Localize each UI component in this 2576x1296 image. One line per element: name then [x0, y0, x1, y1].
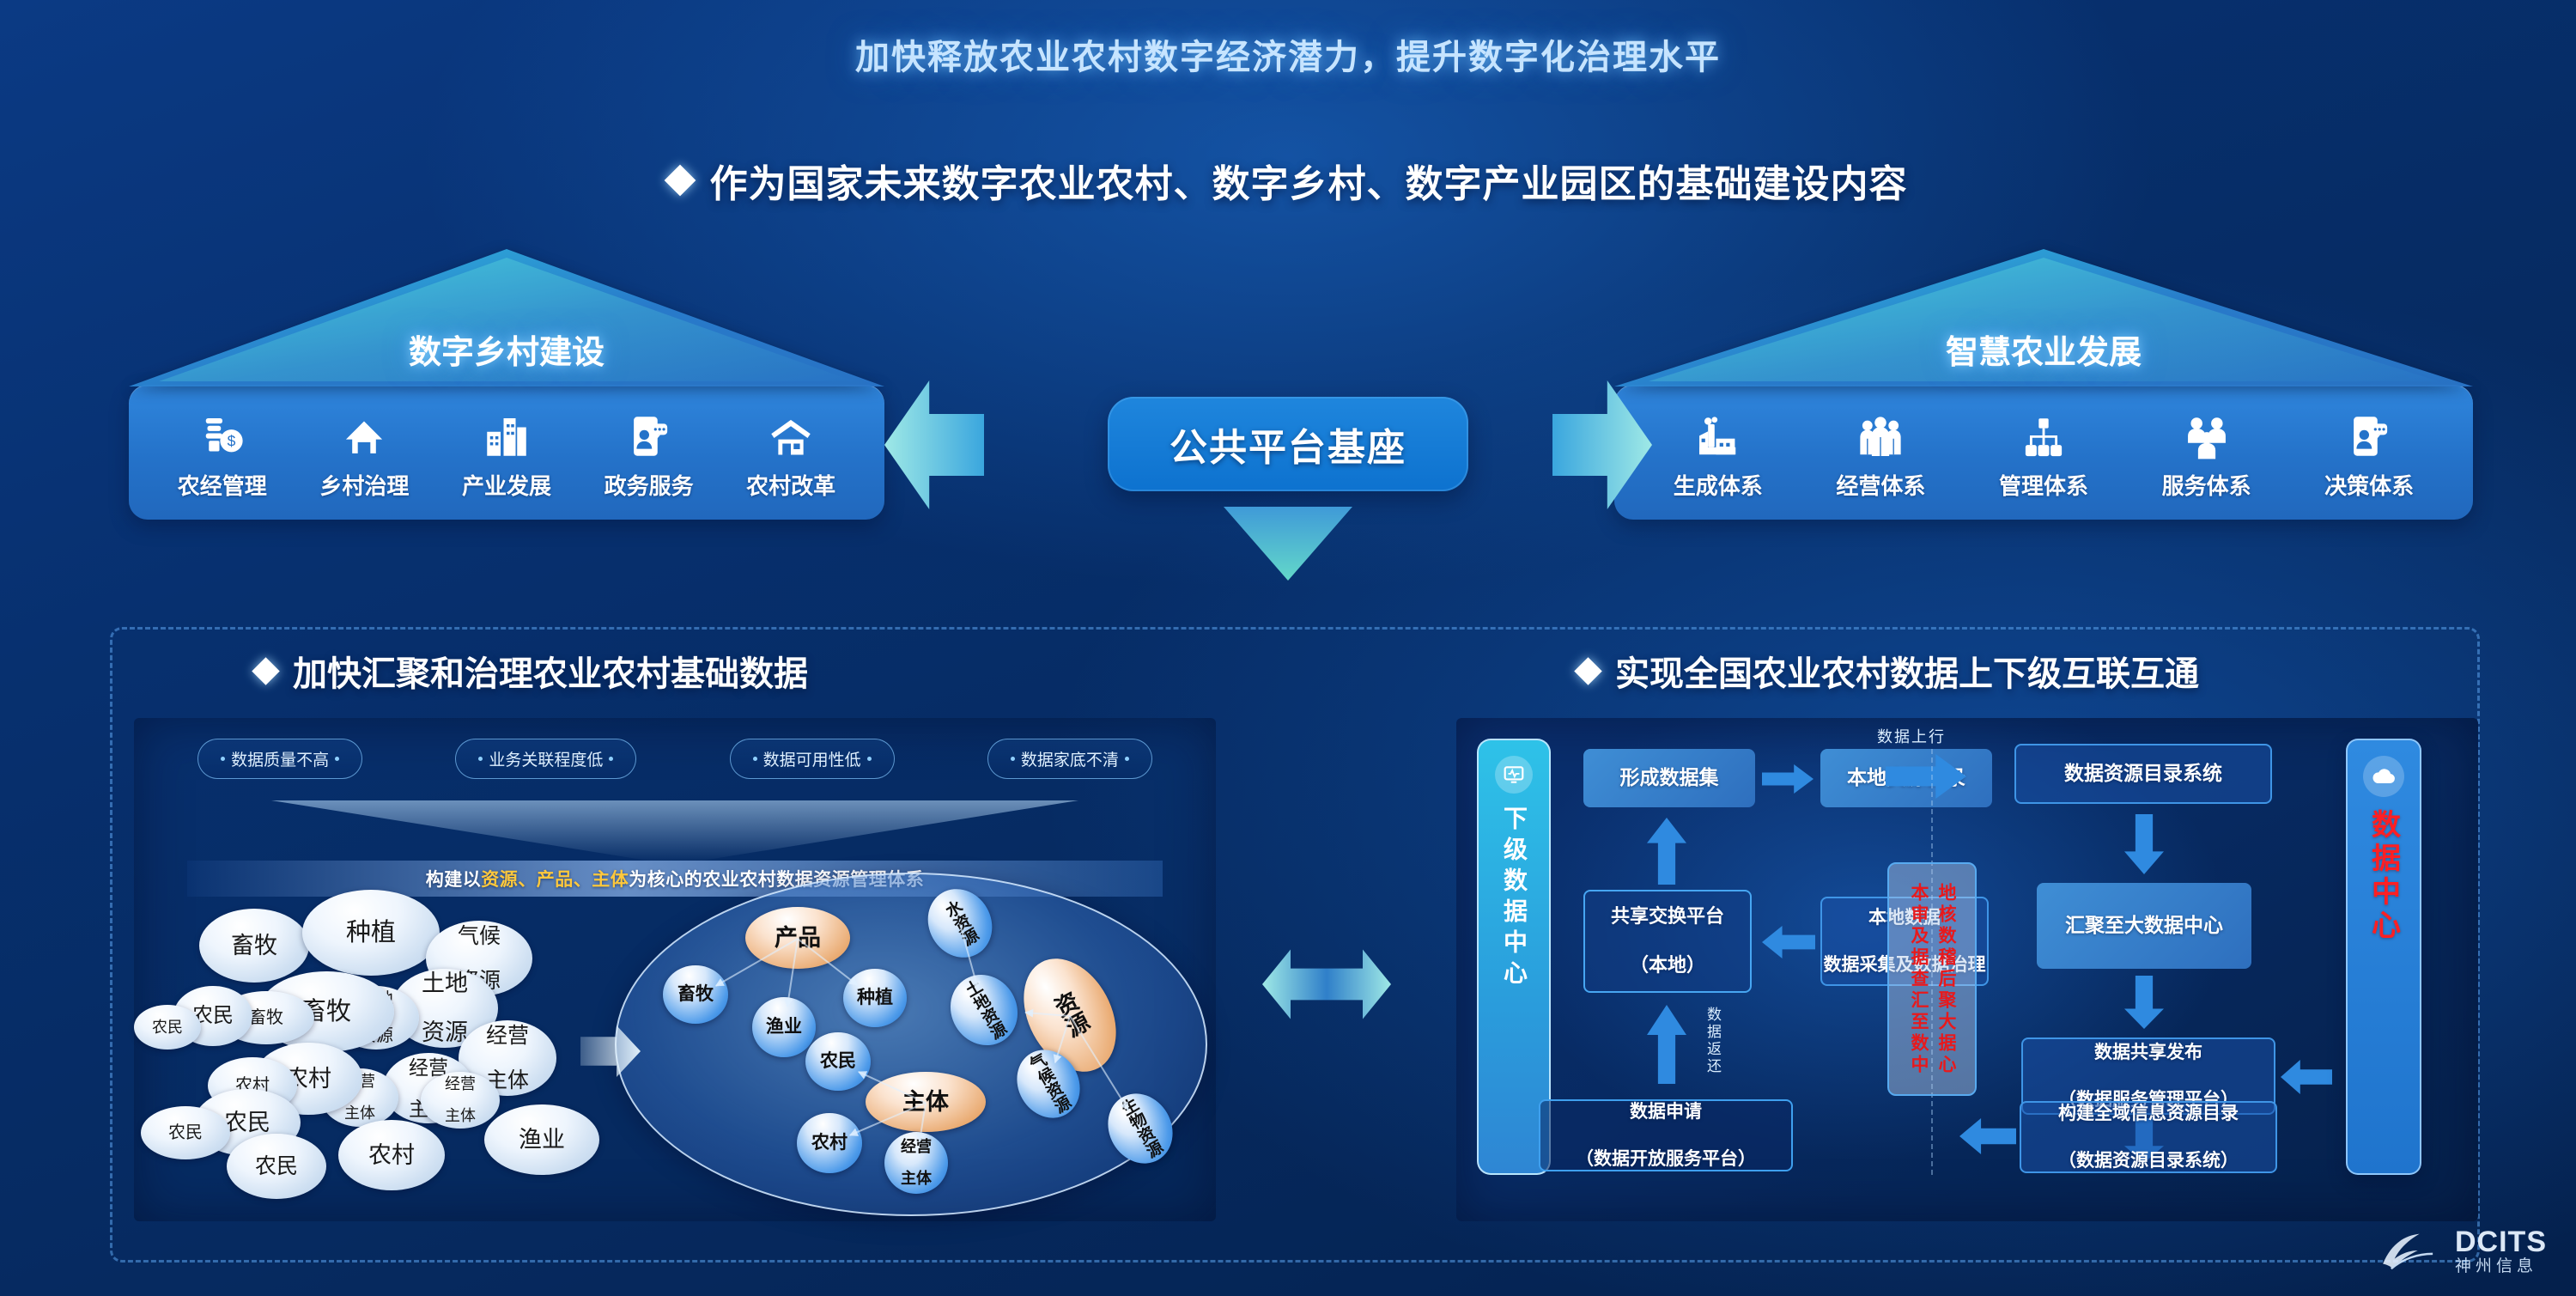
- problem-pill-label: 数据家底不清: [1021, 747, 1119, 770]
- arrow-center-to-publish-icon: [2281, 1060, 2332, 1094]
- problem-pill[interactable]: 数据家底不清: [987, 739, 1152, 779]
- bullet-dot-icon: [1125, 757, 1129, 761]
- monitor-pulse-icon: [1495, 756, 1533, 794]
- mobile-decision-icon: [2347, 407, 2391, 460]
- org-chart-icon: [2020, 407, 2067, 460]
- bottom-right-section-title-text: 实现全国农业农村数据上下级互联互通: [1615, 646, 2199, 696]
- money-stack-icon: $: [198, 407, 246, 460]
- bullet-dot-icon: [753, 757, 757, 761]
- platform-base-label: 公共平台基座: [1170, 417, 1406, 472]
- data-bubble: 农民: [227, 1134, 326, 1199]
- arrow-dataset-to-catalog-icon: [1762, 764, 1814, 794]
- bottom-left-panel: 数据质量不高业务关联程度低数据可用性低数据家底不清 构建以资源、产品、主体为核心…: [134, 718, 1216, 1221]
- left-roof: 数字乡村建设: [129, 249, 884, 386]
- data-bubble: 畜牧: [199, 909, 309, 983]
- feature-label: 生成体系: [1674, 469, 1763, 501]
- page-title: 加快释放农业农村数字经济潜力，提升数字化治理水平: [0, 29, 2576, 79]
- core-node-畜牧: 畜牧: [663, 965, 728, 1024]
- feature-label: 农村改革: [746, 469, 835, 501]
- box-global-information-resource-catalog[interactable]: 构建全域信息资源目录（数据资源目录系统）: [2020, 1101, 2277, 1173]
- factory-icon: [1695, 407, 1741, 460]
- right-feature-row: 生成体系经营体系管理体系服务体系决策体系: [1614, 385, 2473, 520]
- core-node-农民: 农民: [805, 1032, 871, 1091]
- core-data-model-graph: 产品资源主体畜牧渔业种植水资源土地资源气候资源生物资源农民农村经营主体: [615, 873, 1207, 1216]
- left-feature-row: $农经管理乡村治理产业发展政务服务农村改革: [129, 385, 884, 520]
- feature-item-农经管理[interactable]: $农经管理: [172, 407, 273, 501]
- arrow-govern-to-share-icon: [1762, 926, 1815, 958]
- feature-item-服务体系[interactable]: 服务体系: [2156, 407, 2257, 501]
- data-center-bar[interactable]: 数据中心: [2346, 739, 2421, 1175]
- bottom-left-section-title-text: 加快汇聚和治理农业农村基础数据: [293, 646, 808, 696]
- arrow-down-icon: [1224, 507, 1352, 581]
- data-bubble: 农民: [134, 1005, 201, 1050]
- arrow-catalog-to-aggregate-icon: [2124, 814, 2164, 874]
- bullet-dot-icon: [478, 757, 483, 761]
- data-center-label: 数据中心: [2363, 809, 2405, 943]
- bullet-dot-icon: [221, 757, 225, 761]
- right-roof-label: 智慧农业发展: [1614, 326, 2473, 373]
- core-banner-highlight: 资源、产品、主体: [481, 866, 629, 891]
- brand-logo: DCITS 神州信息: [2378, 1226, 2547, 1275]
- diamond-bullet-icon: [664, 165, 696, 197]
- home-icon: [342, 407, 386, 460]
- right-pillar-card: 智慧农业发展 生成体系经营体系管理体系服务体系决策体系: [1614, 249, 2473, 520]
- core-node-农村: 农村: [797, 1113, 862, 1173]
- feature-label: 政务服务: [605, 469, 694, 501]
- red-annotation-col-left: 本审及据查汇至数中: [1905, 883, 1931, 1076]
- bullet-dot-icon: [867, 757, 872, 761]
- problem-pill[interactable]: 业务关联程度低: [455, 739, 636, 779]
- problem-pill-row: 数据质量不高业务关联程度低数据可用性低数据家底不清: [151, 739, 1199, 779]
- diamond-bullet-icon: [1574, 657, 1602, 685]
- cloud-icon: [2363, 756, 2404, 797]
- feature-label: 服务体系: [2162, 469, 2251, 501]
- slide-root: 加快释放农业农村数字经济潜力，提升数字化治理水平 作为国家未来数字农业农村、数字…: [0, 0, 2576, 1296]
- bullet-dot-icon: [1011, 757, 1015, 761]
- box-form-dataset[interactable]: 形成数据集: [1583, 749, 1755, 807]
- problem-pill-label: 数据质量不高: [231, 747, 329, 770]
- arrow-aggregate-to-publish-icon: [2124, 976, 2164, 1029]
- data-bubble: 经营主体: [421, 1072, 500, 1129]
- logo-wordmark: DCITS 神州信息: [2455, 1227, 2547, 1275]
- feature-label: 乡村治理: [319, 469, 409, 501]
- feature-item-生成体系[interactable]: 生成体系: [1668, 407, 1769, 501]
- diamond-bullet-icon: [252, 657, 280, 685]
- bottom-right-section-title: 实现全国农业农村数据上下级互联互通: [1578, 646, 2199, 696]
- bottom-left-section-title: 加快汇聚和治理农业农村基础数据: [256, 646, 808, 696]
- data-bubble: 种植: [302, 890, 440, 976]
- left-pillar-card: 数字乡村建设 $农经管理乡村治理产业发展政务服务农村改革: [129, 249, 884, 520]
- feature-item-经营体系[interactable]: 经营体系: [1830, 407, 1931, 501]
- data-bubble: 农民: [141, 1106, 230, 1159]
- feature-item-管理体系[interactable]: 管理体系: [1993, 407, 2094, 501]
- feature-label: 管理体系: [1999, 469, 2088, 501]
- sub-data-center-label: 下级数据中心: [1497, 806, 1531, 991]
- logo-en: DCITS: [2455, 1227, 2547, 1256]
- right-roof: 智慧农业发展: [1614, 249, 2473, 386]
- page-subtitle-text: 作为国家未来数字农业农村、数字乡村、数字产业园区的基础建设内容: [710, 153, 1908, 208]
- feature-item-产业发展[interactable]: 产业发展: [456, 407, 557, 501]
- feature-label: 决策体系: [2324, 469, 2414, 501]
- problem-pill-label: 业务关联程度低: [489, 747, 603, 770]
- arrow-left-icon: [884, 380, 984, 509]
- funnel-shape-icon: [271, 800, 1078, 862]
- label-data-upload: 数据上行: [1877, 725, 1946, 747]
- feature-label: 产业发展: [462, 469, 551, 501]
- arrow-share-to-dataset-icon: [1647, 818, 1686, 885]
- logo-mark-icon: [2378, 1226, 2445, 1275]
- feature-label: 农经管理: [178, 469, 267, 501]
- box-data-application[interactable]: 数据申请（数据开放服务平台）: [1539, 1099, 1793, 1171]
- problem-pill-label: 数据可用性低: [763, 747, 861, 770]
- label-data-return: 数据返还: [1702, 1007, 1723, 1075]
- bullet-dot-icon: [335, 757, 339, 761]
- buildings-icon: [483, 407, 531, 460]
- box-aggregate-to-big-data-center[interactable]: 汇聚至大数据中心: [2037, 883, 2251, 969]
- bullet-dot-icon: [609, 757, 613, 761]
- core-banner-prefix: 构建以: [426, 866, 482, 891]
- platform-base-badge: 公共平台基座: [1108, 397, 1468, 491]
- feature-item-乡村治理[interactable]: 乡村治理: [313, 407, 415, 501]
- problem-pill[interactable]: 数据可用性低: [730, 739, 895, 779]
- svg-text:$: $: [227, 432, 235, 449]
- feature-label: 经营体系: [1836, 469, 1925, 501]
- logo-cn: 神州信息: [2455, 1258, 2547, 1275]
- feature-item-政务服务[interactable]: 政务服务: [598, 407, 700, 501]
- house-reform-icon: [768, 407, 814, 460]
- data-bubble: 农村: [338, 1120, 445, 1190]
- page-subtitle: 作为国家未来数字农业农村、数字乡村、数字产业园区的基础建设内容: [0, 153, 2576, 208]
- feature-item-农村改革[interactable]: 农村改革: [740, 407, 841, 501]
- arrow-global-to-apply-icon: [1959, 1118, 2016, 1154]
- mobile-service-icon: [627, 407, 671, 460]
- box-share-exchange-platform[interactable]: 共享交换平台（本地）: [1583, 890, 1752, 993]
- people-group-icon: [1857, 407, 1904, 460]
- service-people-icon: [2184, 407, 2230, 460]
- problem-pill[interactable]: 数据质量不高: [197, 739, 362, 779]
- red-annotation-box: 地核数稽后聚大据心 本审及据查汇至数中: [1887, 862, 1977, 1096]
- bottom-right-panel: 下级数据中心 形成数据集 本地资源目录 共享交换平台（本地） 本地数据数据采集及…: [1456, 718, 2478, 1221]
- data-bubble: 渔业: [484, 1104, 599, 1175]
- left-roof-label: 数字乡村建设: [129, 326, 884, 373]
- arrow-return-to-share-icon: [1647, 1005, 1686, 1084]
- feature-item-决策体系[interactable]: 决策体系: [2318, 407, 2420, 501]
- box-data-resource-catalog-system[interactable]: 数据资源目录系统: [2014, 744, 2272, 804]
- red-annotation-col-right: 地核数稽后聚大据心: [1933, 883, 1959, 1076]
